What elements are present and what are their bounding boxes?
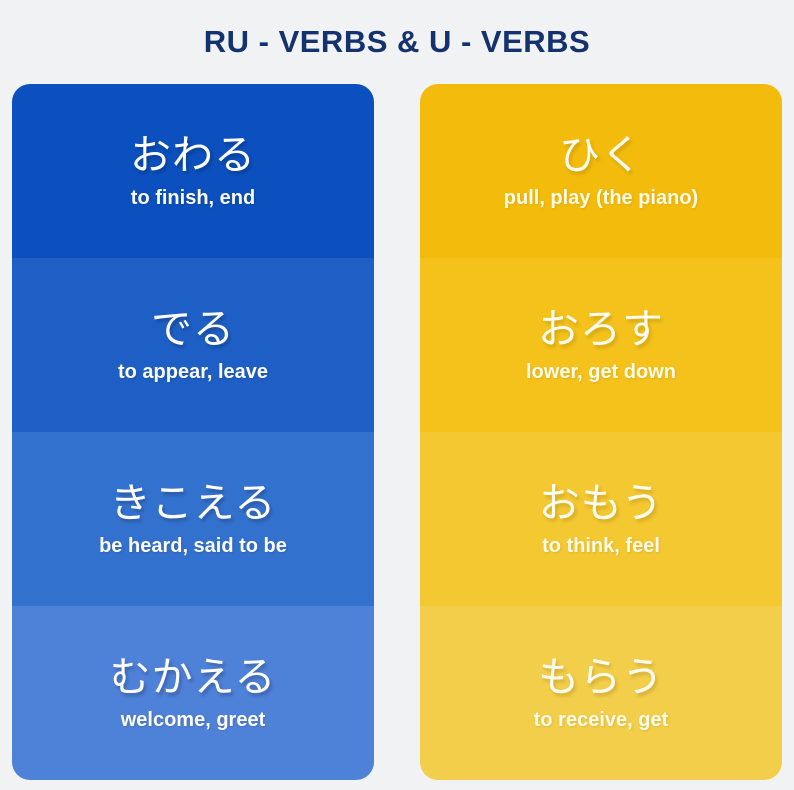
- verb-row[interactable]: むかえる welcome, greet: [12, 606, 374, 780]
- verb-kana: でる: [151, 305, 235, 353]
- verb-meaning: to finish, end: [131, 186, 255, 211]
- verb-meaning: to receive, get: [534, 708, 669, 733]
- verb-kana: もらう: [538, 653, 664, 701]
- verb-kana: おもう: [539, 479, 664, 527]
- verb-kana: きこえる: [110, 479, 277, 527]
- u-verbs-card: ひく pull, play (the piano) おろす lower, get…: [420, 84, 782, 780]
- verb-meaning: to appear, leave: [118, 360, 268, 385]
- verb-reference-poster: RU - VERBS & U - VERBS おわる to finish, en…: [0, 0, 794, 790]
- verb-meaning: be heard, said to be: [99, 534, 287, 559]
- verb-kana: むかえる: [110, 653, 277, 701]
- verb-row[interactable]: ひく pull, play (the piano): [420, 84, 782, 258]
- verb-kana: ひく: [559, 131, 643, 179]
- verb-meaning: pull, play (the piano): [504, 186, 698, 211]
- page-title: RU - VERBS & U - VERBS: [0, 0, 794, 84]
- verb-meaning: lower, get down: [526, 360, 676, 385]
- page-title-text: RU - VERBS & U - VERBS: [204, 24, 590, 60]
- verb-kana: おわる: [130, 131, 256, 179]
- verb-row[interactable]: おもう to think, feel: [420, 432, 782, 606]
- verb-kana: おろす: [538, 305, 664, 353]
- verb-row[interactable]: きこえる be heard, said to be: [12, 432, 374, 606]
- verb-columns: おわる to finish, end でる to appear, leave き…: [0, 84, 794, 790]
- verb-meaning: welcome, greet: [121, 708, 266, 733]
- ru-verbs-card: おわる to finish, end でる to appear, leave き…: [12, 84, 374, 780]
- verb-row[interactable]: おろす lower, get down: [420, 258, 782, 432]
- verb-row[interactable]: もらう to receive, get: [420, 606, 782, 780]
- verb-row[interactable]: おわる to finish, end: [12, 84, 374, 258]
- verb-row[interactable]: でる to appear, leave: [12, 258, 374, 432]
- verb-meaning: to think, feel: [542, 534, 660, 559]
